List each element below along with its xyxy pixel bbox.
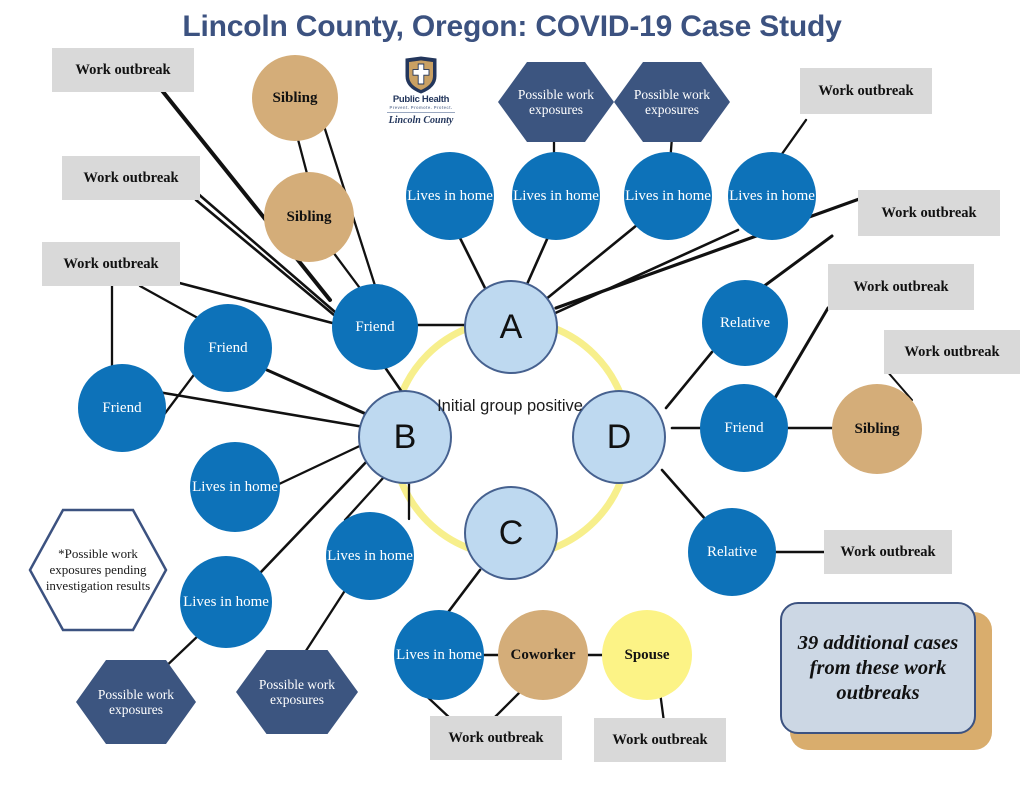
node-label: Lives in home	[327, 548, 413, 565]
legend-hexagon: *Possible work exposures pending investi…	[28, 508, 168, 632]
node-label: C	[499, 514, 524, 552]
node-label: Work outbreak	[840, 544, 935, 560]
node-label: Spouse	[624, 647, 669, 664]
sibling-node[interactable]: Sibling	[832, 384, 922, 474]
lives-in-home-node[interactable]: Lives in home	[406, 152, 494, 240]
node-label: Work outbreak	[63, 256, 158, 272]
node-label: Work outbreak	[83, 170, 178, 186]
node-label: Friend	[208, 340, 247, 357]
node-label: Work outbreak	[881, 205, 976, 221]
node-label: Lives in home	[192, 479, 278, 496]
work-outbreak-box[interactable]: Work outbreak	[884, 330, 1020, 374]
friend-node[interactable]: Friend	[184, 304, 272, 392]
node-label: Possible work exposures	[498, 87, 614, 117]
node-label: Sibling	[854, 421, 899, 438]
node-label: Lives in home	[183, 594, 269, 611]
work-outbreak-box[interactable]: Work outbreak	[824, 530, 952, 574]
initial-case-d[interactable]: D	[572, 390, 666, 484]
node-label: Possible work exposures	[614, 87, 730, 117]
additional-cases-callout: 39 additional cases from these work outb…	[780, 602, 992, 750]
node-label: Work outbreak	[612, 732, 707, 748]
node-label: Coworker	[511, 647, 576, 664]
lives-in-home-node[interactable]: Lives in home	[512, 152, 600, 240]
work-outbreak-box[interactable]: Work outbreak	[800, 68, 932, 114]
work-outbreak-box[interactable]: Work outbreak	[62, 156, 200, 200]
initial-case-a[interactable]: A	[464, 280, 558, 374]
initial-group-label: Initial group positive	[436, 396, 584, 417]
node-label: Work outbreak	[818, 83, 913, 99]
node-label: A	[500, 308, 523, 346]
node-label: Relative	[707, 544, 757, 561]
node-label: Lives in home	[513, 188, 599, 205]
coworker-node[interactable]: Coworker	[498, 610, 588, 700]
node-label: Friend	[355, 319, 394, 336]
lives-in-home-node[interactable]: Lives in home	[624, 152, 712, 240]
node-label: Lives in home	[396, 647, 482, 664]
work-outbreak-box[interactable]: Work outbreak	[42, 242, 180, 286]
work-outbreak-box[interactable]: Work outbreak	[594, 718, 726, 762]
node-label: Work outbreak	[904, 344, 999, 360]
node-label: D	[607, 418, 632, 456]
sibling-node[interactable]: Sibling	[264, 172, 354, 262]
work-outbreak-box[interactable]: Work outbreak	[430, 716, 562, 760]
work-outbreak-box[interactable]: Work outbreak	[858, 190, 1000, 236]
node-label: Lives in home	[729, 188, 815, 205]
node-label: Friend	[724, 420, 763, 437]
friend-node[interactable]: Friend	[700, 384, 788, 472]
spouse-node[interactable]: Spouse	[602, 610, 692, 700]
relative-node[interactable]: Relative	[702, 280, 788, 366]
node-label: B	[394, 418, 417, 456]
node-label: Sibling	[286, 209, 331, 226]
node-label: Lives in home	[625, 188, 711, 205]
callout-text: 39 additional cases from these work outb…	[780, 602, 976, 734]
lives-in-home-node[interactable]: Lives in home	[190, 442, 280, 532]
diagram-canvas: Lincoln County, Oregon: COVID-19 Case St…	[0, 0, 1024, 791]
node-label: Relative	[720, 315, 770, 332]
node-label: Work outbreak	[448, 730, 543, 746]
node-label: Sibling	[272, 90, 317, 107]
friend-node[interactable]: Friend	[78, 364, 166, 452]
lives-in-home-node[interactable]: Lives in home	[326, 512, 414, 600]
node-label: Possible work exposures	[236, 677, 358, 707]
node-label: Possible work exposures	[76, 687, 196, 717]
initial-case-c[interactable]: C	[464, 486, 558, 580]
node-label: Work outbreak	[853, 279, 948, 295]
node-label: Work outbreak	[75, 62, 170, 78]
friend-node[interactable]: Friend	[332, 284, 418, 370]
lives-in-home-node[interactable]: Lives in home	[180, 556, 272, 648]
work-outbreak-box[interactable]: Work outbreak	[828, 264, 974, 310]
sibling-node[interactable]: Sibling	[252, 55, 338, 141]
work-outbreak-box[interactable]: Work outbreak	[52, 48, 194, 92]
legend-text: *Possible work exposures pending investi…	[28, 546, 168, 595]
lives-in-home-node[interactable]: Lives in home	[728, 152, 816, 240]
relative-node[interactable]: Relative	[688, 508, 776, 596]
node-label: Friend	[102, 400, 141, 417]
lives-in-home-node[interactable]: Lives in home	[394, 610, 484, 700]
node-label: Lives in home	[407, 188, 493, 205]
